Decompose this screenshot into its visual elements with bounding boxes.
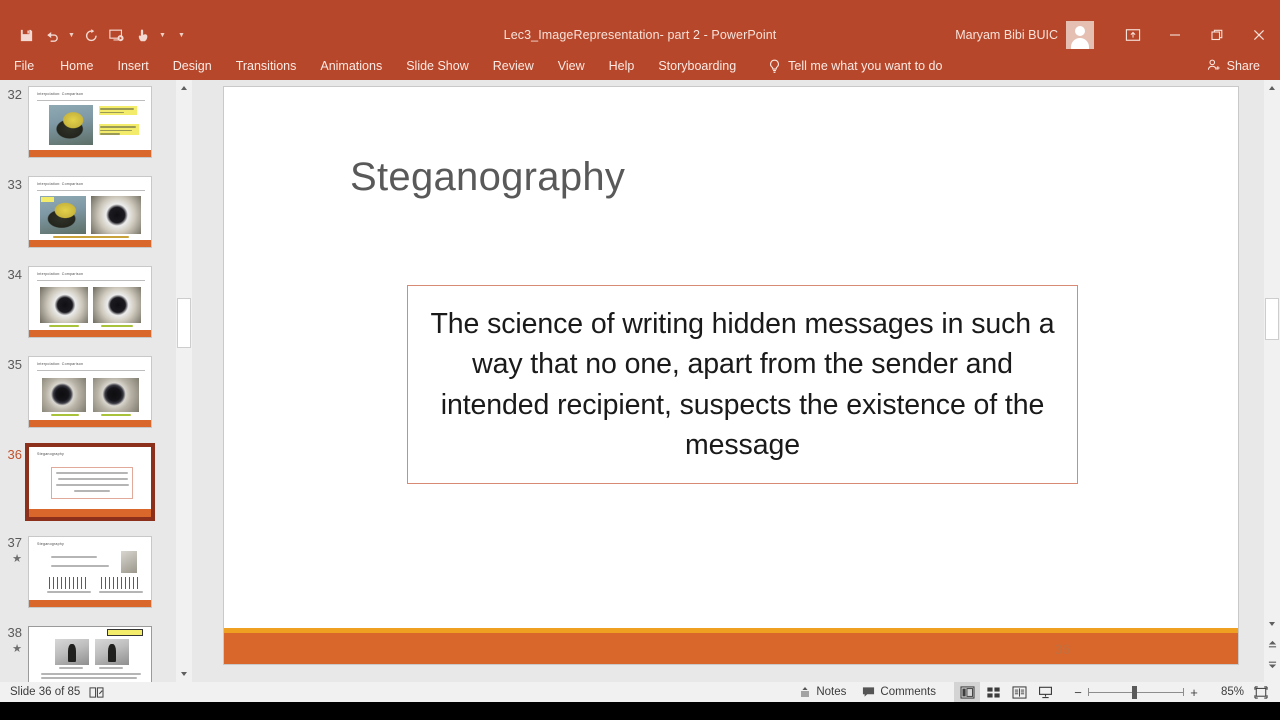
slide-text-box[interactable]: The science of writing hidden messages i…: [407, 285, 1078, 484]
current-slide[interactable]: Steganography The science of writing hid…: [224, 87, 1238, 664]
slide-body-text: The science of writing hidden messages i…: [408, 304, 1077, 466]
zoom-out-button[interactable]: −: [1068, 682, 1088, 702]
thumbnail-slide-37[interactable]: Steganography: [28, 536, 152, 608]
reading-view-button[interactable]: [1006, 682, 1032, 702]
thumbnail-title: Interpolation: Comparison: [37, 272, 83, 276]
notes-label: Notes: [816, 686, 846, 698]
slide-page-number: 36: [1054, 641, 1070, 657]
tab-home[interactable]: Home: [48, 52, 105, 80]
redo-icon[interactable]: [79, 23, 103, 47]
share-button[interactable]: Share: [1201, 54, 1266, 78]
tab-review[interactable]: Review: [481, 52, 546, 80]
notes-icon: [799, 686, 811, 698]
thumbnail-title: Interpolation: Comparison: [37, 92, 83, 96]
comments-label: Comments: [880, 686, 936, 698]
thumbnail-slide-33[interactable]: Interpolation: Comparison: [28, 176, 152, 248]
tab-transitions[interactable]: Transitions: [224, 52, 309, 80]
thumbnail-number: 34: [0, 266, 28, 338]
thumbnail-title: Interpolation: Comparison: [37, 362, 83, 366]
thumbnail-title: Interpolation: Comparison: [37, 182, 83, 186]
slide-scrollbar-track[interactable]: [1264, 80, 1280, 682]
window-top-strip: [0, 0, 1280, 18]
notes-button[interactable]: Notes: [791, 682, 854, 702]
touch-mouse-mode-icon[interactable]: [131, 23, 155, 47]
tab-view[interactable]: View: [546, 52, 597, 80]
list-item[interactable]: 37 ★ Steganography: [0, 536, 176, 608]
title-bar-right: Maryam Bibi BUIC: [955, 18, 1280, 52]
share-label: Share: [1227, 59, 1260, 73]
zoom-control: − + 85%: [1068, 682, 1272, 702]
slide-counter[interactable]: Slide 36 of 85: [10, 686, 80, 698]
slide-show-view-button[interactable]: [1032, 682, 1058, 702]
status-bar-right: Notes Comments −: [791, 682, 1280, 702]
list-item[interactable]: 34 Interpolation: Comparison: [0, 266, 176, 338]
zoom-slider[interactable]: [1088, 682, 1184, 702]
thumbnail-scroll-up-button[interactable]: [176, 80, 192, 96]
restore-button[interactable]: [1196, 18, 1238, 52]
thumbnail-number: 38: [0, 626, 22, 639]
list-item[interactable]: 35 Interpolation: Comparison: [0, 356, 176, 428]
tab-file[interactable]: File: [0, 52, 48, 80]
thumbnail-number: 32: [0, 86, 28, 158]
slide-scroll-down-button[interactable]: [1264, 616, 1280, 632]
ribbon-display-options-icon[interactable]: [1112, 18, 1154, 52]
quick-access-toolbar: ▼ ▼ ▼: [0, 23, 187, 47]
list-item[interactable]: 38 ★: [0, 626, 176, 682]
zoom-slider-handle[interactable]: [1132, 686, 1137, 699]
tab-insert[interactable]: Insert: [106, 52, 161, 80]
thumbnail-slide-38[interactable]: [28, 626, 152, 682]
thumbnail-slide-34[interactable]: Interpolation: Comparison: [28, 266, 152, 338]
tab-animations[interactable]: Animations: [308, 52, 394, 80]
normal-view-button[interactable]: [954, 682, 980, 702]
thumbnail-number: 33: [0, 176, 28, 248]
thumbnail-scroll-down-button[interactable]: [176, 666, 192, 682]
tab-slide-show[interactable]: Slide Show: [394, 52, 481, 80]
avatar[interactable]: [1066, 21, 1094, 49]
thumbnail-title: Steganography: [37, 452, 64, 456]
customize-quick-access-icon[interactable]: ▼: [176, 24, 187, 46]
close-button[interactable]: [1238, 18, 1280, 52]
slide-thumbnail-pane[interactable]: 32 Interpolation: Comparison 33: [0, 80, 176, 682]
workspace: 32 Interpolation: Comparison 33: [0, 80, 1280, 682]
title-bar: ▼ ▼ ▼ Lec3_ImageRepresentation- part 2 -…: [0, 18, 1280, 52]
undo-icon[interactable]: [40, 23, 64, 47]
next-slide-button[interactable]: [1264, 656, 1280, 672]
slide-editing-area[interactable]: Steganography The science of writing hid…: [196, 80, 1256, 682]
lightbulb-icon: [768, 59, 781, 74]
tell-me-label: Tell me what you want to do: [788, 59, 942, 73]
share-person-icon: [1207, 58, 1221, 75]
tab-design[interactable]: Design: [161, 52, 224, 80]
tell-me-search[interactable]: Tell me what you want to do: [768, 59, 942, 74]
accessibility-checker-icon[interactable]: [89, 686, 104, 699]
thumbnail-number: 35: [0, 356, 28, 428]
account-name[interactable]: Maryam Bibi BUIC: [955, 28, 1058, 42]
save-icon[interactable]: [14, 23, 38, 47]
thumbnail-scrollbar-track[interactable]: [176, 80, 192, 682]
undo-dropdown-icon[interactable]: ▼: [66, 24, 77, 46]
thumbnail-number: 37: [0, 536, 22, 549]
tab-help[interactable]: Help: [597, 52, 647, 80]
animation-star-icon: ★: [0, 552, 22, 565]
slide-scrollbar-thumb[interactable]: [1265, 298, 1279, 340]
ribbon-tab-bar: File Home Insert Design Transitions Anim…: [0, 52, 1280, 80]
minimize-button[interactable]: [1154, 18, 1196, 52]
list-item[interactable]: 32 Interpolation: Comparison: [0, 86, 176, 158]
slide-title[interactable]: Steganography: [350, 155, 625, 200]
thumbnail-slide-32[interactable]: Interpolation: Comparison: [28, 86, 152, 158]
status-bar-left: Slide 36 of 85: [0, 686, 104, 699]
touch-mode-dropdown-icon[interactable]: ▼: [157, 24, 168, 46]
start-slideshow-icon[interactable]: [105, 23, 129, 47]
list-item[interactable]: 36 Steganography: [0, 446, 176, 518]
powerpoint-window: ▼ ▼ ▼ Lec3_ImageRepresentation- part 2 -…: [0, 0, 1280, 720]
animation-star-icon: ★: [0, 642, 22, 655]
slide-sorter-view-button[interactable]: [980, 682, 1006, 702]
comment-icon: [862, 686, 875, 698]
thumbnail-scrollbar-thumb[interactable]: [177, 298, 191, 348]
thumbnail-number: 36: [0, 446, 28, 518]
previous-slide-button[interactable]: [1264, 636, 1280, 652]
status-bar: Slide 36 of 85 Notes Comments: [0, 682, 1280, 702]
thumbnail-slide-35[interactable]: Interpolation: Comparison: [28, 356, 152, 428]
list-item[interactable]: 33 Interpolation: Comparison: [0, 176, 176, 248]
slide-footer-bar: [224, 628, 1238, 664]
thumbnail-slide-36[interactable]: Steganography: [28, 446, 152, 518]
fit-to-window-button[interactable]: [1250, 682, 1272, 702]
thumbnail-title: Steganography: [37, 542, 64, 546]
zoom-in-button[interactable]: +: [1184, 682, 1204, 702]
tab-storyboarding[interactable]: Storyboarding: [646, 52, 748, 80]
comments-button[interactable]: Comments: [854, 682, 944, 702]
zoom-level[interactable]: 85%: [1210, 686, 1244, 698]
slide-scroll-up-button[interactable]: [1264, 80, 1280, 96]
